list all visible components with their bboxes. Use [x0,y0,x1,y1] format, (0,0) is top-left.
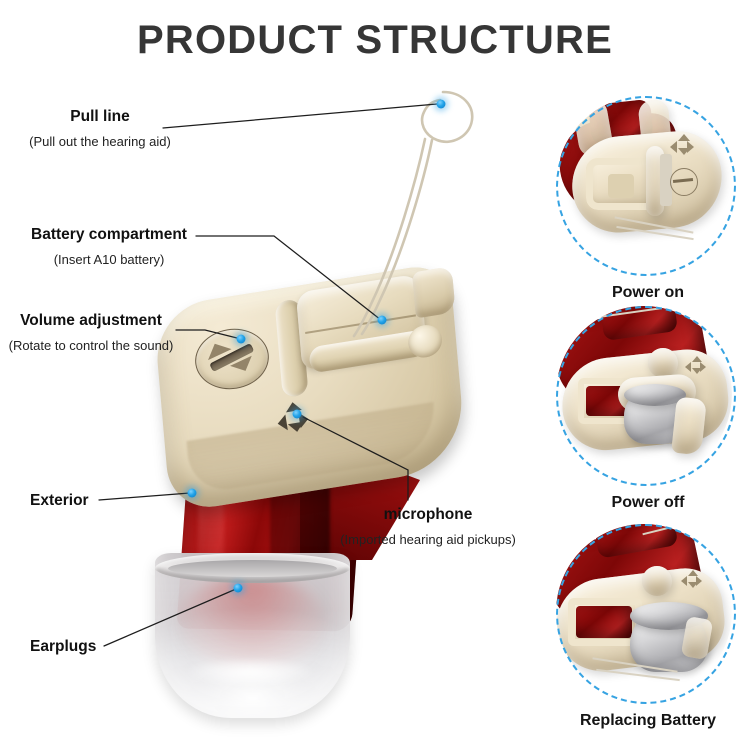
callout-battery-compartment: Battery compartment (Insert A10 battery) [0,226,218,267]
callout-earplugs: Earplugs [30,638,96,657]
inset-power-on-ring [556,96,736,276]
inset-power-on-caption: Power on [548,284,748,302]
callout-earplugs-title: Earplugs [30,638,96,657]
callout-microphone-title: microphone [320,506,536,525]
marker-dot-volume-adjustment [237,335,246,344]
inset-replacing-battery-caption: Replacing Battery [548,712,748,730]
callout-battery-compartment-subtitle: (Insert A10 battery) [0,252,218,268]
callout-volume-adjustment-subtitle: (Rotate to control the sound) [0,338,182,354]
battery-door-tab [412,266,456,318]
mic-lobe-west [276,414,287,431]
earplug-rim [155,553,350,583]
page-title: PRODUCT STRUCTURE [0,18,750,62]
callout-pull-line: Pull line (Pull out the hearing aid) [0,108,200,149]
marker-dot-pull-line [437,100,446,109]
earplug-gloss [183,657,317,687]
callout-volume-adjustment: Volume adjustment (Rotate to control the… [0,312,182,353]
hearing-aid-illustration [150,285,530,725]
callout-pull-line-title: Pull line [0,108,200,127]
inset-power-off-caption: Power off [548,494,748,512]
callout-exterior: Exterior [30,492,89,511]
callout-microphone-subtitle: (Imported hearing aid pickups) [320,532,536,548]
earplug-dome [155,553,350,718]
earplug-red-tint [179,575,325,667]
callout-microphone: microphone (Imported hearing aid pickups… [320,506,536,547]
inset-power-off-ring [556,306,736,486]
callout-exterior-title: Exterior [30,492,89,511]
marker-dot-exterior [188,489,197,498]
marker-dot-microphone [293,410,302,419]
inset-replacing-battery-ring [556,524,736,704]
callout-pull-line-subtitle: (Pull out the hearing aid) [0,134,200,150]
callout-battery-compartment-title: Battery compartment [0,226,218,245]
callout-volume-adjustment-title: Volume adjustment [0,312,182,331]
marker-dot-earplugs [234,584,243,593]
product-structure-diagram: PRODUCT STRUCTURE [0,0,750,750]
marker-dot-battery-compartment [378,316,387,325]
